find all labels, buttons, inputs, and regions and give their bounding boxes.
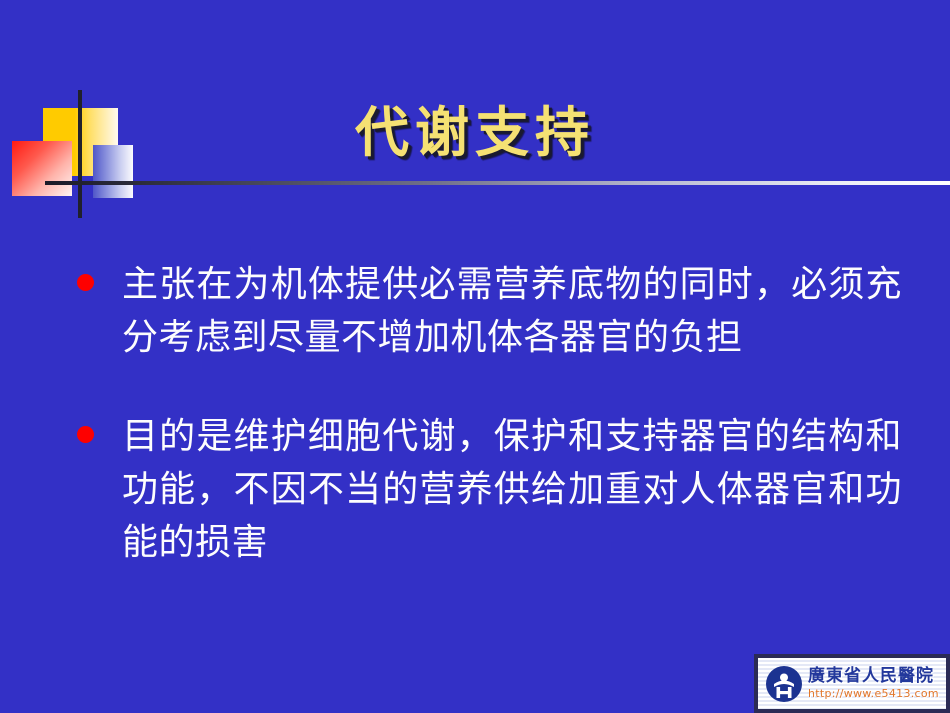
hospital-name: 廣東省人民醫院 <box>808 668 946 685</box>
hospital-logo-text: 廣東省人民醫院 http://www.e5413.com <box>808 668 946 699</box>
slide-title: 代谢支持 <box>0 97 950 167</box>
hospital-emblem-icon <box>764 664 804 704</box>
hospital-logo-panel: 廣東省人民醫院 http://www.e5413.com <box>758 658 946 709</box>
hospital-logo: 廣東省人民醫院 http://www.e5413.com <box>754 654 950 713</box>
list-item: 目的是维护细胞代谢，保护和支持器官的结构和功能，不因不当的营养供给加重对人体器官… <box>62 410 902 569</box>
presentation-slide: 代谢支持 主张在为机体提供必需营养底物的同时，必须充分考虑到尽量不增加机体各器官… <box>0 0 950 713</box>
bullet-dot-icon <box>77 426 94 443</box>
bullet-text: 目的是维护细胞代谢，保护和支持器官的结构和功能，不因不当的营养供给加重对人体器官… <box>122 410 902 569</box>
list-item: 主张在为机体提供必需营养底物的同时，必须充分考虑到尽量不增加机体各器官的负担 <box>62 258 902 364</box>
hospital-website-url: http://www.e5413.com <box>808 688 946 699</box>
horizontal-rule <box>45 181 950 185</box>
slide-body: 主张在为机体提供必需营养底物的同时，必须充分考虑到尽量不增加机体各器官的负担 目… <box>62 258 902 615</box>
bullet-text: 主张在为机体提供必需营养底物的同时，必须充分考虑到尽量不增加机体各器官的负担 <box>122 258 902 364</box>
bullet-dot-icon <box>77 274 94 291</box>
